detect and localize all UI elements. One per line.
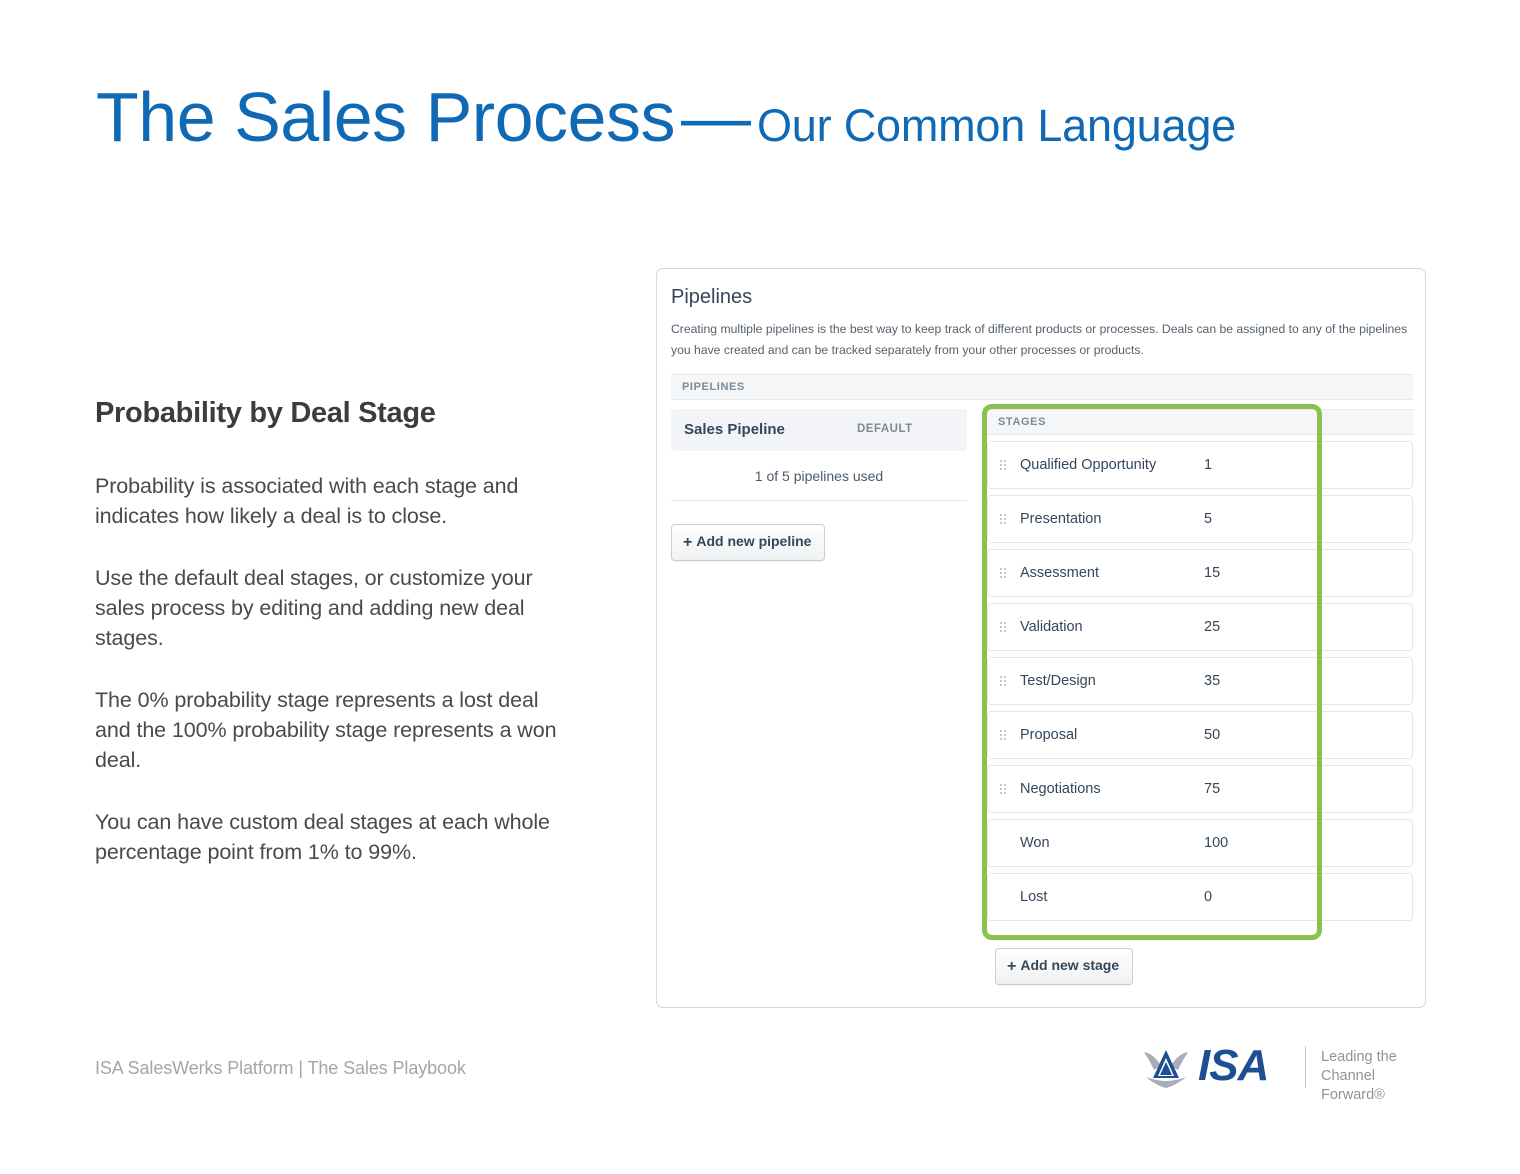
body-paragraph-4: You can have custom deal stages at each … <box>95 807 575 867</box>
stage-row[interactable]: Assessment15 <box>987 549 1413 597</box>
body-paragraph-3: The 0% probability stage represents a lo… <box>95 685 575 775</box>
section-heading: Probability by Deal Stage <box>95 396 575 431</box>
stage-row[interactable]: Negotiations75 <box>987 765 1413 813</box>
stage-row[interactable]: Validation25 <box>987 603 1413 651</box>
body-paragraph-1: Probability is associated with each stag… <box>95 471 575 531</box>
pipelines-panel-description: Creating multiple pipelines is the best … <box>671 319 1413 361</box>
add-new-stage-label: Add new stage <box>1020 957 1119 973</box>
drag-handle-icon[interactable] <box>1000 676 1007 687</box>
pipeline-name: Sales Pipeline <box>684 421 785 438</box>
drag-handle-icon[interactable] <box>1000 622 1007 633</box>
stages-section-header: STAGES <box>987 409 1413 435</box>
stage-row[interactable]: Presentation5 <box>987 495 1413 543</box>
page-title-subtitle: Our Common Language <box>757 100 1236 151</box>
pipelines-section-header: PIPELINES <box>671 374 1413 400</box>
pipeline-list-column: Sales Pipeline DEFAULT 1 of 5 pipelines … <box>671 409 967 561</box>
stage-name: Proposal <box>1020 727 1077 743</box>
add-new-stage-row: +Add new stage <box>995 948 1133 985</box>
pipeline-row-sales-pipeline[interactable]: Sales Pipeline DEFAULT <box>671 409 967 451</box>
stage-probability-value: 1 <box>1204 457 1212 473</box>
add-new-stage-button[interactable]: +Add new stage <box>995 948 1133 985</box>
stage-name: Presentation <box>1020 511 1101 527</box>
pipeline-default-badge: DEFAULT <box>857 423 913 435</box>
drag-handle-icon[interactable] <box>1000 514 1007 525</box>
plus-icon: + <box>1007 958 1016 975</box>
drag-handle-icon[interactable] <box>1000 568 1007 579</box>
add-new-pipeline-label: Add new pipeline <box>696 533 811 549</box>
isa-tagline-line1: Leading the <box>1321 1048 1432 1067</box>
stage-probability-value: 5 <box>1204 511 1212 527</box>
stage-probability-value: 15 <box>1204 565 1220 581</box>
plus-icon: + <box>683 534 692 551</box>
footer-text: ISA SalesWerks Platform | The Sales Play… <box>95 1058 466 1079</box>
stage-name: Won <box>1020 835 1050 851</box>
stage-probability-value: 35 <box>1204 673 1220 689</box>
stage-probability-value: 100 <box>1204 835 1228 851</box>
isa-tagline: Leading the Channel Forward® <box>1321 1048 1432 1105</box>
stage-row[interactable]: Won100 <box>987 819 1413 867</box>
drag-handle-icon[interactable] <box>1000 784 1007 795</box>
page-title: The Sales Process—Our Common Language <box>96 82 1236 152</box>
stage-row[interactable]: Lost0 <box>987 873 1413 921</box>
stage-probability-value: 75 <box>1204 781 1220 797</box>
stage-name: Negotiations <box>1020 781 1101 797</box>
stage-probability-value: 50 <box>1204 727 1220 743</box>
stages-section-label: STAGES <box>998 416 1046 428</box>
drag-handle-icon[interactable] <box>1000 730 1007 741</box>
isa-wordmark: ISA <box>1198 1042 1268 1090</box>
left-content-column: Probability by Deal Stage Probability is… <box>95 396 575 867</box>
stage-row[interactable]: Qualified Opportunity1 <box>987 441 1413 489</box>
stage-name: Validation <box>1020 619 1083 635</box>
isa-triangle-logo-icon <box>1140 1044 1192 1092</box>
add-new-pipeline-row: +Add new pipeline <box>671 524 967 561</box>
pipelines-panel-title: Pipelines <box>671 286 752 309</box>
stage-list-column: STAGES Qualified Opportunity1Presentatio… <box>987 409 1413 921</box>
isa-tagline-line2: Channel Forward® <box>1321 1067 1432 1105</box>
stage-name: Qualified Opportunity <box>1020 457 1156 473</box>
stage-probability-value: 25 <box>1204 619 1220 635</box>
page-title-dash: — <box>675 78 757 156</box>
stage-name: Test/Design <box>1020 673 1096 689</box>
stage-rows-container: Qualified Opportunity1Presentation5Asses… <box>987 441 1413 921</box>
add-new-pipeline-button[interactable]: +Add new pipeline <box>671 524 825 561</box>
body-paragraph-2: Use the default deal stages, or customiz… <box>95 563 575 653</box>
logo-divider <box>1305 1046 1306 1088</box>
pipeline-usage-text: 1 of 5 pipelines used <box>671 451 967 501</box>
isa-logo: ISA Leading the Channel Forward® <box>1140 1040 1432 1098</box>
pipelines-section-label: PIPELINES <box>682 381 745 393</box>
stage-row[interactable]: Test/Design35 <box>987 657 1413 705</box>
stage-name: Lost <box>1020 889 1047 905</box>
page-title-main: The Sales Process <box>96 78 675 156</box>
drag-handle-icon[interactable] <box>1000 460 1007 471</box>
pipelines-settings-screenshot: Pipelines Creating multiple pipelines is… <box>656 268 1426 1008</box>
stage-probability-value: 0 <box>1204 889 1212 905</box>
stage-name: Assessment <box>1020 565 1099 581</box>
stage-row[interactable]: Proposal50 <box>987 711 1413 759</box>
